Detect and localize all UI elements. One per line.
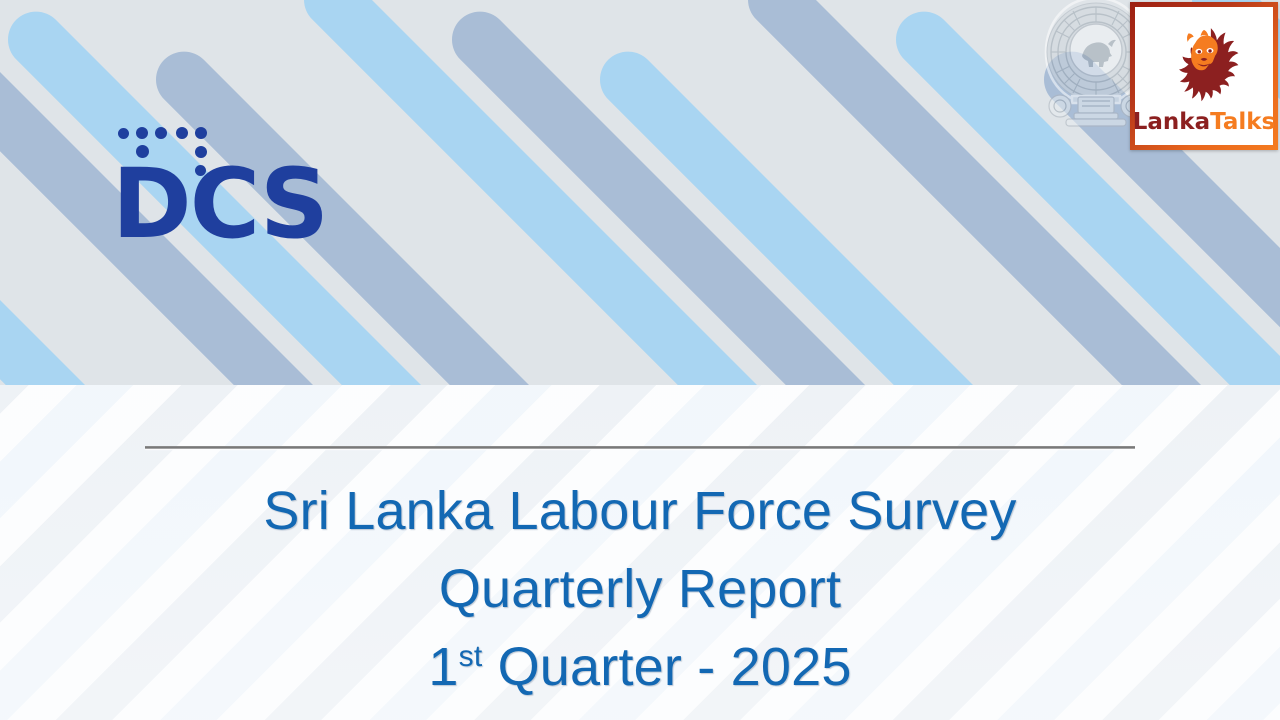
dcs-logo: DCS	[112, 118, 357, 263]
title-slide: DCS	[0, 0, 1280, 720]
lankatalks-logo[interactable]: LankaTalks	[1130, 2, 1278, 150]
title-line-3: 1st Quarter - 2025	[0, 628, 1280, 706]
lankatalks-word-lanka: Lanka	[1133, 109, 1210, 135]
page-title: Sri Lanka Labour Force Survey Quarterly …	[0, 472, 1280, 706]
quarter-rest: Quarter - 2025	[482, 637, 851, 697]
lankatalks-word-talks: Talks	[1210, 109, 1275, 135]
quarter-ordinal-suffix: st	[459, 640, 483, 673]
title-line-1: Sri Lanka Labour Force Survey	[0, 472, 1280, 550]
dcs-wordmark: DCS	[112, 156, 327, 252]
lankatalks-wordmark: LankaTalks	[1133, 111, 1276, 134]
title-divider-rule	[145, 446, 1135, 449]
quarter-number: 1	[428, 637, 458, 697]
lankatalks-logo-inner: LankaTalks	[1135, 7, 1273, 145]
lion-head-icon	[1161, 23, 1247, 109]
title-line-2: Quarterly Report	[0, 550, 1280, 628]
